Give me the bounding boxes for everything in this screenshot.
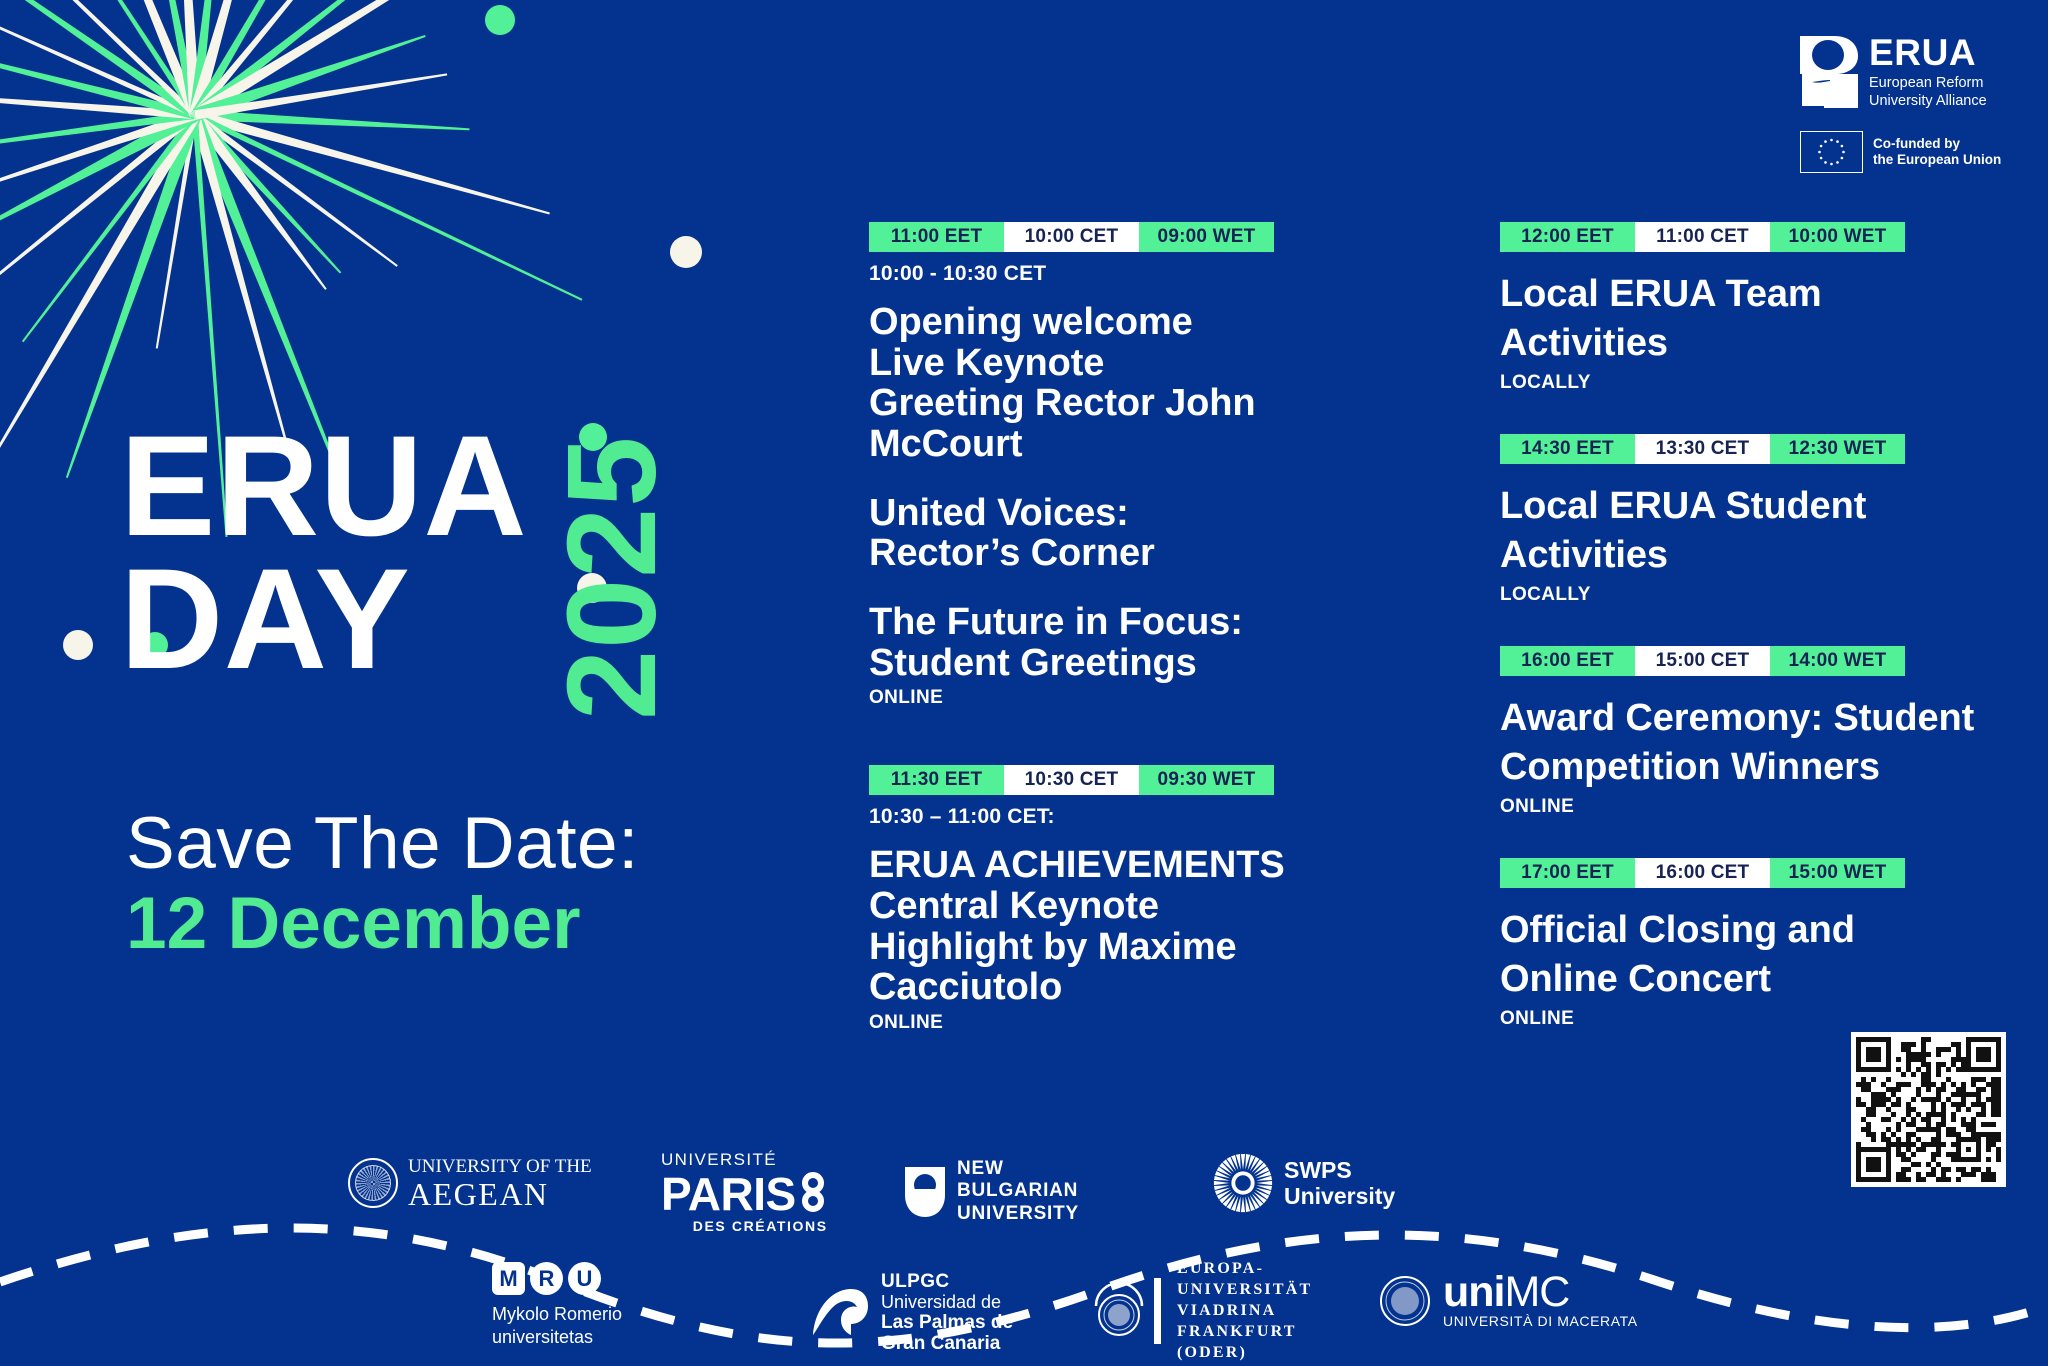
session-mode-badge: LOCALLY [1500, 372, 2030, 394]
timezone-segment: 14:30 EET [1500, 434, 1635, 464]
timezone-segment: 13:30 CET [1635, 434, 1770, 464]
schedule-block: 17:00 EET16:00 CET15:00 WETOfficial Clos… [1500, 858, 2030, 1030]
ulpgc-line4: Gran Canaria [881, 1334, 1013, 1355]
mru-line1: Mykolo Romerio [492, 1303, 622, 1326]
unimc-seal-icon [1379, 1275, 1431, 1327]
session-title-line: ERUA ACHIEVEMENTS [869, 845, 1339, 886]
spacer [869, 709, 1339, 765]
timezone-segment: 15:00 WET [1770, 858, 1905, 888]
session-title-line: McCourt [869, 424, 1339, 465]
timezone-segment: 16:00 CET [1635, 858, 1770, 888]
schedule-block: 16:00 EET15:00 CET14:00 WETAward Ceremon… [1500, 646, 2030, 818]
erua-logo-subtitle: European Reform University Alliance [1869, 75, 1987, 110]
poster-canvas: ERUA DAY 2025 Save The Date: 12 December… [0, 0, 2048, 1366]
session-mode-badge: ONLINE [869, 687, 1339, 709]
viadrina-line2: UNIVERSITÄT [1177, 1279, 1312, 1300]
session-title-line: Activities [1500, 531, 2030, 580]
session-title-line: Highlight by Maxime [869, 927, 1339, 968]
session-title-line: Live Keynote [869, 343, 1339, 384]
spacer [1500, 898, 2030, 906]
spacer [1500, 474, 2030, 482]
viadrina-line3: VIADRINA [1177, 1300, 1312, 1321]
nbu-shield-icon [903, 1165, 947, 1219]
partner-logo-unimc: uniMC UNIVERSITÀ DI MACERATA [1379, 1272, 1638, 1329]
session-title-line: Opening welcome [869, 302, 1339, 343]
brand-line-2: DAY [120, 553, 527, 686]
ulpgc-line2: Universidad de [881, 1293, 1013, 1313]
swps-line1: SWPS [1284, 1157, 1395, 1183]
viadrina-divider [1154, 1278, 1161, 1344]
nbu-line3: UNIVERSITY [957, 1203, 1079, 1225]
session-title-line: Local ERUA Team [1500, 270, 2030, 319]
mru-letter-m: M [492, 1262, 525, 1295]
session-mode-badge: ONLINE [1500, 796, 2030, 818]
session-title-line: Local ERUA Student [1500, 482, 2030, 531]
schedule-column-left: 11:00 EET10:00 CET09:00 WET10:00 - 10:30… [869, 222, 1339, 1034]
aegean-line2: AEGEAN [408, 1178, 592, 1210]
erua-r-mark-icon [1800, 36, 1858, 108]
timezone-segment: 10:30 CET [1004, 765, 1139, 795]
timezone-pill: 14:30 EET13:30 CET12:30 WET [1500, 434, 1905, 464]
session-title: Local ERUA StudentActivities [1500, 482, 2030, 580]
erua-logo: ERUA European Reform University Alliance… [1800, 34, 2018, 173]
unimc-name-light: MC [1504, 1268, 1569, 1316]
timezone-segment: 09:00 WET [1139, 222, 1274, 252]
timezone-segment: 12:30 WET [1770, 434, 1905, 464]
schedule-block: 11:00 EET10:00 CET09:00 WET10:00 - 10:30… [869, 222, 1339, 709]
session-title: Award Ceremony: StudentCompetition Winne… [1500, 694, 2030, 792]
session-title-line: United Voices: [869, 493, 1339, 534]
event-date: 12 December [126, 883, 846, 965]
schedule-block: 11:30 EET10:30 CET09:30 WET10:30 – 11:00… [869, 765, 1339, 1034]
swps-sunburst-icon [1212, 1152, 1274, 1214]
paris8-eight-icon [798, 1173, 828, 1215]
session-mode-badge: LOCALLY [1500, 584, 2030, 606]
erua-subtitle-line2: University Alliance [1869, 93, 1987, 111]
session-title-line: Greeting Rector John [869, 383, 1339, 424]
viadrina-line1: EUROPA- [1177, 1258, 1312, 1279]
session-title: Opening welcomeLive KeynoteGreeting Rect… [869, 302, 1339, 465]
spacer [1500, 394, 2030, 434]
spacer [1500, 686, 2030, 694]
session-time-range: 10:30 – 11:00 CET: [869, 805, 1339, 829]
timezone-segment: 17:00 EET [1500, 858, 1635, 888]
aegean-seal-icon [348, 1158, 398, 1208]
paris8-top: UNIVERSITÉ [661, 1150, 777, 1170]
mru-letter-r: R [530, 1262, 563, 1295]
timezone-segment: 10:00 CET [1004, 222, 1139, 252]
partner-logo-swps: SWPS University [1212, 1152, 1395, 1214]
session-title: Local ERUA TeamActivities [1500, 270, 2030, 368]
partner-logo-aegean: UNIVERSITY OF THE AEGEAN [348, 1157, 592, 1210]
session-mode-badge: ONLINE [1500, 1008, 2030, 1030]
paris8-mid: PARIS [661, 1171, 796, 1217]
eu-badge-line1: Co-funded by [1873, 136, 2001, 153]
session-title-line: Student Greetings [869, 643, 1339, 684]
timezone-segment: 16:00 EET [1500, 646, 1635, 676]
page-title: ERUA DAY 2025 [120, 420, 800, 720]
unimc-name-bold: uni [1443, 1268, 1504, 1316]
eu-flag-icon [1800, 131, 1863, 173]
session-title-line: Award Ceremony: Student [1500, 694, 2030, 743]
session-title: United Voices:Rector’s Corner [869, 493, 1339, 574]
eu-badge-line2: the European Union [1873, 152, 2001, 169]
viadrina-line4: FRANKFURT [1177, 1321, 1312, 1342]
brand-line-1: ERUA [120, 420, 527, 553]
timezone-segment: 12:00 EET [1500, 222, 1635, 252]
timezone-segment: 11:00 CET [1635, 222, 1770, 252]
timezone-pill: 16:00 EET15:00 CET14:00 WET [1500, 646, 1905, 676]
session-title-line: The Future in Focus: [869, 602, 1339, 643]
ulpgc-line3: Las Palmas de [881, 1313, 1013, 1334]
session-title-line: Official Closing and [1500, 906, 2030, 955]
session-title: The Future in Focus:Student Greetings [869, 602, 1339, 683]
partner-logo-nbu: NEW BULGARIAN UNIVERSITY [903, 1158, 1079, 1225]
timezone-segment: 15:00 CET [1635, 646, 1770, 676]
mru-letters-icon: M R U [492, 1262, 601, 1295]
mru-line2: universitetas [492, 1326, 622, 1349]
schedule-column-right: 12:00 EET11:00 CET10:00 WETLocal ERUA Te… [1500, 222, 2030, 1030]
timezone-pill: 11:30 EET10:30 CET09:30 WET [869, 765, 1274, 795]
paris8-bottom: DES CRÉATIONS [693, 1218, 828, 1234]
spacer [1500, 818, 2030, 858]
save-the-date: Save The Date: 12 December [126, 806, 846, 964]
aegean-line1: UNIVERSITY OF THE [408, 1157, 592, 1178]
session-title-line: Central Keynote [869, 886, 1339, 927]
partner-logo-mru: M R U Mykolo Romerio universitetas [492, 1262, 622, 1349]
nbu-line1: NEW [957, 1158, 1079, 1180]
timezone-segment: 09:30 WET [1139, 765, 1274, 795]
partner-logo-paris8: UNIVERSITÉ PARIS DES CRÉATIONS [661, 1150, 828, 1234]
timezone-segment: 14:00 WET [1770, 646, 1905, 676]
spacer [1500, 606, 2030, 646]
ulpgc-wave-icon [811, 1287, 869, 1339]
unimc-subtitle: UNIVERSITÀ DI MACERATA [1443, 1314, 1638, 1329]
erua-logo-name: ERUA [1869, 34, 1987, 71]
timezone-pill: 11:00 EET10:00 CET09:00 WET [869, 222, 1274, 252]
timezone-pill: 12:00 EET11:00 CET10:00 WET [1500, 222, 1905, 252]
partner-logo-ulpgc: ULPGC Universidad de Las Palmas de Gran … [811, 1272, 1013, 1354]
nbu-line2: BULGARIAN [957, 1180, 1079, 1202]
schedule-block: 14:30 EET13:30 CET12:30 WETLocal ERUA St… [1500, 434, 2030, 606]
session-title-line: Online Concert [1500, 955, 2030, 1004]
session-title: ERUA ACHIEVEMENTSCentral KeynoteHighligh… [869, 845, 1339, 1008]
timezone-segment: 10:00 WET [1770, 222, 1905, 252]
session-mode-badge: ONLINE [869, 1012, 1339, 1034]
timezone-segment: 11:00 EET [869, 222, 1004, 252]
session-title-line: Activities [1500, 319, 2030, 368]
erua-subtitle-line1: European Reform [1869, 75, 1987, 93]
spacer [1500, 262, 2030, 270]
session-title-line: Cacciutolo [869, 967, 1339, 1008]
eu-cofunding-badge: Co-funded by the European Union [1800, 131, 2018, 173]
session-title-line: Competition Winners [1500, 743, 2030, 792]
brand-year: 2025 [549, 414, 675, 720]
schedule-block: 12:00 EET11:00 CET10:00 WETLocal ERUA Te… [1500, 222, 2030, 394]
session-title-line: Rector’s Corner [869, 533, 1339, 574]
spacer [869, 465, 1339, 493]
viadrina-line5: (ODER) [1177, 1342, 1312, 1363]
timezone-segment: 11:30 EET [869, 765, 1004, 795]
mru-letter-u: U [568, 1262, 601, 1295]
swps-line2: University [1284, 1183, 1395, 1209]
qr-code-icon[interactable] [1851, 1032, 2006, 1187]
spacer [869, 574, 1339, 602]
session-title: Official Closing andOnline Concert [1500, 906, 2030, 1004]
viadrina-seal-icon [1092, 1284, 1146, 1338]
save-the-date-label: Save The Date: [126, 806, 846, 883]
session-time-range: 10:00 - 10:30 CET [869, 262, 1339, 286]
partner-logo-viadrina: EUROPA- UNIVERSITÄT VIADRINA FRANKFURT (… [1092, 1258, 1312, 1364]
timezone-pill: 17:00 EET16:00 CET15:00 WET [1500, 858, 1905, 888]
ulpgc-line1: ULPGC [881, 1272, 1013, 1293]
